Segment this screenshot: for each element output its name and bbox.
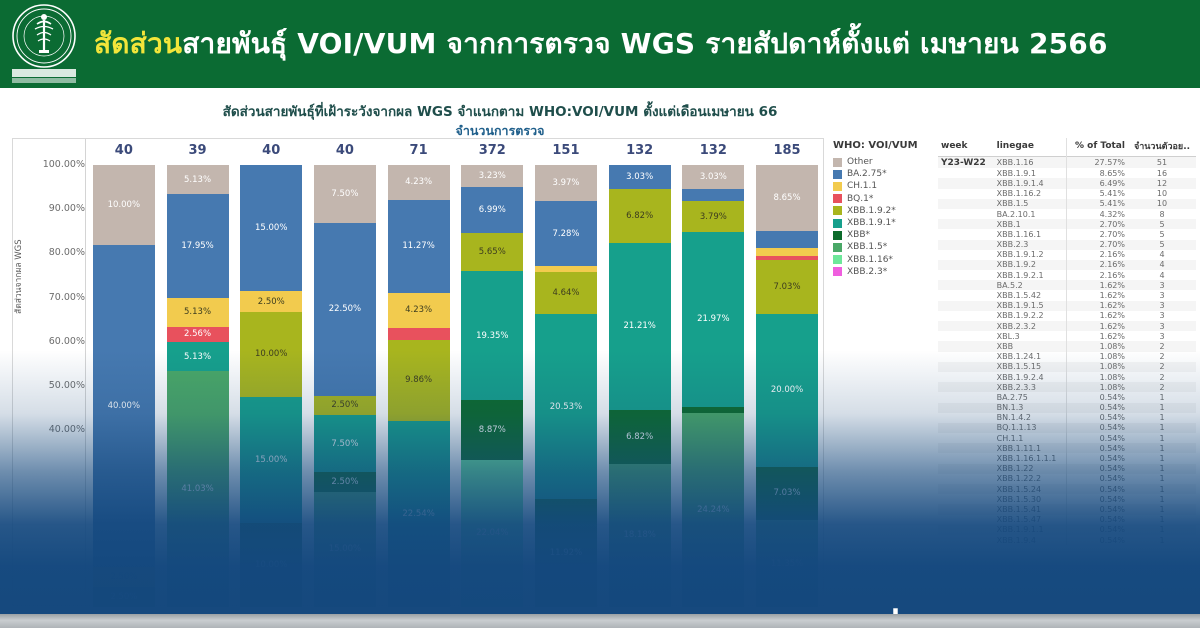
y-axis-tick: 100.00%	[17, 159, 85, 170]
bar-stack: 3.03%6.82%21.21%6.82%18.18%	[609, 165, 671, 607]
cell-percent: 2.70%	[1066, 240, 1128, 250]
bar-segment-label: 21.97%	[697, 314, 729, 324]
cell-percent: 0.54%	[1066, 433, 1128, 443]
bar-segment-label: 5.65%	[479, 247, 506, 257]
cell-percent: 2.70%	[1066, 229, 1128, 239]
cell-lineage: XBB.1.22.2	[994, 474, 1067, 484]
cell-count: 3	[1128, 280, 1196, 290]
cell-week	[938, 474, 994, 484]
legend-item[interactable]: XBB*	[833, 229, 933, 241]
cell-percent: 1.08%	[1066, 372, 1128, 382]
cell-count: 1	[1128, 474, 1196, 484]
bar-segment[interactable]	[756, 248, 818, 256]
cell-count: 1	[1128, 443, 1196, 453]
cell-percent: 1.62%	[1066, 321, 1128, 331]
legend-label: CH.1.1	[847, 181, 877, 191]
bottom-strip	[0, 614, 1200, 628]
bar-stack: 8.65%7.03%20.00%7.03%11.35%	[756, 165, 818, 607]
cell-lineage: XBB.1.5.15	[994, 362, 1067, 372]
table-head: week linegae % of Total จำนวนตัวอย..	[938, 138, 1196, 157]
table-row[interactable]: XBB.1.9.18.65%16	[938, 168, 1196, 178]
bar-segment[interactable]: 8.87%	[461, 400, 523, 459]
cell-percent: 0.54%	[1066, 494, 1128, 504]
bar-segment-label: 9.86%	[405, 375, 432, 385]
bar-segment-label: 7.50%	[331, 439, 358, 449]
bar-segment-label: 11.92%	[550, 548, 582, 558]
cell-lineage: XBB.1.24.1	[994, 352, 1067, 362]
legend-label: XBB.2.3*	[847, 267, 887, 277]
bar-column[interactable]: 407.50%22.50%2.50%7.50%2.50%15.00%	[314, 139, 376, 607]
bar-count-label: 40	[314, 143, 376, 158]
cell-count: 10	[1128, 199, 1196, 209]
bar-segment[interactable]: 10.00%	[240, 523, 302, 607]
cell-count: 1	[1128, 423, 1196, 433]
cell-percent: 0.54%	[1066, 515, 1128, 525]
bar-segment-label: 5.13%	[184, 307, 211, 317]
cell-lineage: XBB.1.9.2.2	[994, 311, 1067, 321]
bar-segment-label: 2.50%	[331, 477, 358, 487]
cell-count: 3	[1128, 321, 1196, 331]
cell-lineage: BA.5.2	[994, 280, 1067, 290]
cell-percent: 0.54%	[1066, 484, 1128, 494]
bar-segment-label: 2.50%	[110, 572, 137, 582]
cell-week	[938, 535, 994, 545]
bar-segment-label: 7.03%	[774, 488, 801, 498]
bar-segment[interactable]: 20.53%	[535, 314, 597, 499]
bar-segment[interactable]: 5.13%	[167, 342, 229, 371]
bar-segment[interactable]: 18.18%	[609, 464, 671, 607]
bar-segment[interactable]: 15.00%	[240, 397, 302, 523]
table-row[interactable]: XBB.1.24.11.08%2	[938, 352, 1196, 362]
cell-count: 1	[1128, 484, 1196, 494]
table-row[interactable]: XBB.1.5.151.08%2	[938, 362, 1196, 372]
bar-segment[interactable]: 20.00%	[756, 314, 818, 467]
table-row[interactable]: XBB.2.3.21.62%3	[938, 321, 1196, 331]
bar-segment[interactable]: 41.03%	[167, 371, 229, 607]
cell-percent: 1.62%	[1066, 331, 1128, 341]
cell-lineage: XBB.1.16.1.1.1	[994, 453, 1067, 463]
bar-segment-label: 6.82%	[626, 211, 653, 221]
cell-count: 1	[1128, 433, 1196, 443]
bar-segment[interactable]: 17.95%	[167, 194, 229, 297]
cell-percent: 1.08%	[1066, 362, 1128, 372]
bar-segment-label: 40.00%	[108, 401, 140, 411]
bar-segment[interactable]: 7.03%	[756, 467, 818, 521]
bar-segment-label: 3.03%	[700, 172, 727, 182]
cell-count: 2	[1128, 382, 1196, 392]
cell-lineage: XBB.1.5.30	[994, 494, 1067, 504]
cell-count: 3	[1128, 311, 1196, 321]
bar-segment-label: 3.97%	[552, 178, 579, 188]
cell-count: 1	[1128, 403, 1196, 413]
bar-segment[interactable]: 4.23%	[388, 293, 450, 328]
bar-segment-label: 21.21%	[623, 321, 655, 331]
table-body: Y23-W22XBB.1.1627.57%51XBB.1.9.18.65%16X…	[938, 157, 1196, 546]
th-lineage[interactable]: linegae	[994, 138, 1067, 157]
legend-title: WHO: VOI/VUM	[833, 140, 933, 151]
bar-column[interactable]: 1513.97%7.28%4.64%20.53%11.92%	[535, 139, 597, 607]
bar-segment-label: 3.23%	[479, 171, 506, 181]
bar-segment-label: 4.64%	[552, 288, 579, 298]
bar-count-label: 39	[167, 143, 229, 158]
bar-segment[interactable]: 11.92%	[535, 499, 597, 607]
table-row[interactable]: BA.2.10.14.32%8	[938, 209, 1196, 219]
bar-stack: 3.23%6.99%5.65%19.35%8.87%22.04%	[461, 165, 523, 607]
cell-week	[938, 229, 994, 239]
cell-percent: 0.54%	[1066, 423, 1128, 433]
bar-segment[interactable]: 11.35%	[756, 520, 818, 607]
bar-column[interactable]: 3723.23%6.99%5.65%19.35%8.87%22.04%	[461, 139, 523, 607]
cell-count: 10	[1128, 189, 1196, 199]
chart-plot-area: สัดส่วนจากผล WGS 100.00%90.00%80.00%70.0…	[12, 138, 824, 606]
bar-segment[interactable]: 7.03%	[756, 260, 818, 314]
legend-item[interactable]: XBB.1.5*	[833, 241, 933, 253]
table-row[interactable]: BA.2.750.54%1	[938, 392, 1196, 402]
bar-segment-label: 10.00%	[255, 560, 287, 570]
bar-count-label: 132	[609, 143, 671, 158]
bar-segment[interactable]: 24.24%	[682, 413, 744, 607]
bar-segment[interactable]	[756, 231, 818, 248]
cell-lineage: XBB.1.16	[994, 157, 1067, 169]
table-row[interactable]: XBB1.08%2	[938, 341, 1196, 351]
cell-lineage: XBB.2.3.2	[994, 321, 1067, 331]
bar-segment[interactable]: 40.00%	[93, 245, 155, 566]
bar-segment[interactable]: 19.35%	[461, 271, 523, 400]
y-axis-tick: 80.00%	[17, 247, 85, 258]
cell-count: 1	[1128, 494, 1196, 504]
cell-count: 12	[1128, 178, 1196, 188]
bar-segment[interactable]: 2.50%	[314, 396, 376, 415]
bar-stack: 3.03%3.79%21.97%24.24%	[682, 165, 744, 607]
cell-count: 2	[1128, 341, 1196, 351]
cell-lineage: XBB.1.9.2.4	[994, 372, 1067, 382]
legend-item[interactable]: BA.2.75*	[833, 168, 933, 180]
bar-segment-label: 2.50%	[258, 297, 285, 307]
bar-segment[interactable]: 3.23%	[461, 165, 523, 187]
slide-body: สัดส่วนสายพันธุ์ที่เฝ้าระวังจากผล WGS จำ…	[0, 88, 1200, 628]
bar-segment[interactable]: 2.56%	[167, 327, 229, 342]
cell-week	[938, 372, 994, 382]
cell-week	[938, 240, 994, 250]
cell-week	[938, 494, 994, 504]
bar-segment[interactable]: 4.23%	[388, 165, 450, 200]
bar-count-label: 40	[240, 143, 302, 158]
table-row[interactable]: XBB.1.5.470.54%1	[938, 515, 1196, 525]
cell-count: 3	[1128, 290, 1196, 300]
table-row[interactable]: BQ.1.1.130.54%1	[938, 423, 1196, 433]
legend-item[interactable]: XBB.1.9.1*	[833, 217, 933, 229]
table-row[interactable]: CH.1.10.54%1	[938, 433, 1196, 443]
table-row[interactable]: XBB.1.9.1.22.16%4	[938, 250, 1196, 260]
cell-percent: 1.08%	[1066, 341, 1128, 351]
chart-title: สัดส่วนสายพันธุ์ที่เฝ้าระวังจากผล WGS จำ…	[0, 100, 1000, 122]
cell-percent: 1.62%	[1066, 290, 1128, 300]
bar-segment-label: 20.00%	[771, 385, 803, 395]
bar-stack: 7.50%22.50%2.50%7.50%2.50%15.00%	[314, 165, 376, 607]
table-row[interactable]: XBB.1.5.240.54%1	[938, 484, 1196, 494]
table-row[interactable]: XBL.31.62%3	[938, 331, 1196, 341]
y-axis-tick: 70.00%	[17, 292, 85, 303]
cell-lineage: BA.2.75	[994, 392, 1067, 402]
cell-lineage: XBB.1	[994, 219, 1067, 229]
cell-count: 1	[1128, 464, 1196, 474]
cell-percent: 1.62%	[1066, 301, 1128, 311]
bar-segment-label: 24.24%	[697, 505, 729, 515]
cell-lineage: BN.1.4.2	[994, 413, 1067, 423]
bar-count-label: 185	[756, 143, 818, 158]
table-row[interactable]: XBB.1.16.1.1.10.54%1	[938, 453, 1196, 463]
y-axis-tick: 40.00%	[17, 424, 85, 435]
cell-count: 5	[1128, 219, 1196, 229]
cell-week	[938, 260, 994, 270]
table-row[interactable]: BN.1.30.54%1	[938, 403, 1196, 413]
table-row[interactable]: XBB.1.9.1.10.54%1	[938, 525, 1196, 535]
bar-segment[interactable]: 4.64%	[535, 272, 597, 314]
bar-segment-label: 22.50%	[329, 304, 361, 314]
legend-label: XBB.1.9.2*	[847, 206, 896, 216]
cell-percent: 0.54%	[1066, 504, 1128, 514]
bar-segment[interactable]: 3.03%	[609, 165, 671, 189]
cell-lineage: XBB.1.5.42	[994, 290, 1067, 300]
table-row[interactable]: XBB.1.16.12.70%5	[938, 229, 1196, 239]
cell-percent: 5.41%	[1066, 189, 1128, 199]
cell-count: 4	[1128, 260, 1196, 270]
cell-week	[938, 382, 994, 392]
cell-week	[938, 178, 994, 188]
bar-stack: 15.00%2.50%10.00%15.00%10.00%	[240, 165, 302, 607]
legend-item[interactable]: XBB.2.3*	[833, 266, 933, 278]
cell-lineage: BA.2.10.1	[994, 209, 1067, 219]
bar-segment[interactable]	[682, 189, 744, 201]
page-title-rest: สายพันธุ์ VOI/VUM จากการตรวจ WGS รายสัปด…	[182, 27, 1107, 60]
bar-segment-label: 22.04%	[476, 528, 508, 538]
cell-count: 1	[1128, 535, 1196, 545]
cell-lineage: XBB	[994, 341, 1067, 351]
bar-segment-label: 10.00%	[108, 200, 140, 210]
bar-segment-label: 5.13%	[184, 175, 211, 185]
cell-week	[938, 443, 994, 453]
table-row[interactable]: Y23-W22XBB.1.1627.57%51	[938, 157, 1196, 169]
cell-count: 4	[1128, 250, 1196, 260]
table-row[interactable]: XBB.1.5.300.54%1	[938, 494, 1196, 504]
bar-segment[interactable]: 2.50%	[314, 472, 376, 491]
table-row[interactable]: XBB.1.16.25.41%10	[938, 189, 1196, 199]
bar-segment-label: 20.53%	[550, 402, 582, 412]
bar-stack: 5.13%17.95%5.13%2.56%5.13%41.03%	[167, 165, 229, 607]
lineage-table: week linegae % of Total จำนวนตัวอย.. Y23…	[938, 138, 1196, 545]
cell-week	[938, 413, 994, 423]
bar-segment[interactable]: 6.99%	[461, 187, 523, 234]
bar-segment-label: 15.00%	[329, 544, 361, 554]
legend-label: BQ.1*	[847, 194, 873, 204]
cell-week	[938, 311, 994, 321]
table-row[interactable]: XBB.1.9.1.51.62%3	[938, 301, 1196, 311]
bar-column[interactable]: 1323.03%3.79%21.97%24.24%	[682, 139, 744, 607]
th-sample-count[interactable]: จำนวนตัวอย..	[1128, 138, 1196, 157]
legend-swatch	[833, 267, 842, 276]
bar-segment[interactable]: 5.13%	[167, 165, 229, 194]
legend-item[interactable]: XBB.1.9.2*	[833, 205, 933, 217]
page-title: สัดส่วนสายพันธุ์ VOI/VUM จากการตรวจ WGS …	[88, 29, 1108, 60]
slide-header: สัดส่วนสายพันธุ์ VOI/VUM จากการตรวจ WGS …	[0, 0, 1200, 88]
table-row[interactable]: XBB.1.55.41%10	[938, 199, 1196, 209]
bar-segment-label: 22.54%	[402, 509, 434, 519]
bar-count-label: 372	[461, 143, 523, 158]
bar-segment[interactable]: 2.50%	[93, 567, 155, 587]
table-row[interactable]: XBB.1.9.2.21.62%3	[938, 311, 1196, 321]
table-row[interactable]: XBB.2.3.31.08%2	[938, 382, 1196, 392]
bar-segment-label: 7.28%	[552, 229, 579, 239]
bar-column[interactable]: 395.13%17.95%5.13%2.56%5.13%41.03%	[167, 139, 229, 607]
bar-segment[interactable]: 15.00%	[314, 492, 376, 607]
cell-lineage: XBB.1.5.47	[994, 515, 1067, 525]
cell-percent: 0.54%	[1066, 464, 1128, 474]
cell-percent: 1.08%	[1066, 382, 1128, 392]
legend-swatch	[833, 206, 842, 215]
table-row[interactable]: XBB.1.5.410.54%1	[938, 504, 1196, 514]
bar-segment[interactable]: 3.03%	[682, 165, 744, 189]
table-row[interactable]: XBB.2.32.70%5	[938, 240, 1196, 250]
legend-item[interactable]: Other	[833, 156, 933, 168]
legend-swatch	[833, 194, 842, 203]
bar-segment[interactable]: 8.65%	[756, 165, 818, 231]
bar-segment[interactable]: 11.27%	[388, 200, 450, 293]
cell-week	[938, 199, 994, 209]
cell-count: 3	[1128, 331, 1196, 341]
th-percent-of-total[interactable]: % of Total	[1066, 138, 1128, 157]
bar-count-label: 71	[388, 143, 450, 158]
legend-label: XBB*	[847, 230, 870, 240]
bar-segment[interactable]: 7.28%	[535, 201, 597, 267]
table-row[interactable]: XBB.1.11.10.54%1	[938, 443, 1196, 453]
table-row[interactable]: XBB.1.9.1.46.49%12	[938, 178, 1196, 188]
bar-segment-label: 4.23%	[405, 305, 432, 315]
cell-percent: 1.62%	[1066, 311, 1128, 321]
cell-count: 2	[1128, 362, 1196, 372]
legend-item[interactable]: BQ.1*	[833, 193, 933, 205]
table-row[interactable]: XBB.12.70%5	[938, 219, 1196, 229]
cell-lineage: XBL.3	[994, 331, 1067, 341]
bar-segment-label: 2.50%	[331, 400, 358, 410]
bar-segment-label: 4.23%	[405, 177, 432, 187]
cell-lineage: XBB.1.9.1.1	[994, 525, 1067, 535]
y-axis-tick: 50.00%	[17, 380, 85, 391]
bar-column[interactable]: 4015.00%2.50%10.00%15.00%10.00%	[240, 139, 302, 607]
cell-count: 51	[1128, 157, 1196, 169]
bar-segment-label: 6.82%	[626, 432, 653, 442]
bar-segment[interactable]: 5.65%	[461, 233, 523, 271]
bar-segment[interactable]: 3.79%	[682, 201, 744, 231]
cell-percent: 27.57%	[1066, 157, 1128, 169]
bar-stack: 3.97%7.28%4.64%20.53%11.92%	[535, 165, 597, 607]
cell-week	[938, 362, 994, 372]
cell-percent: 0.54%	[1066, 474, 1128, 484]
table-row[interactable]: XBB.1.9.40.54%1	[938, 535, 1196, 545]
bar-segment[interactable]: 7.50%	[314, 415, 376, 473]
bar-segment[interactable]: 6.82%	[609, 189, 671, 243]
cell-lineage: XBB.1.9.1	[994, 168, 1067, 178]
legend-swatch	[833, 231, 842, 240]
bar-segment[interactable]: 10.00%	[93, 165, 155, 245]
cell-week	[938, 341, 994, 351]
cell-week	[938, 301, 994, 311]
bar-segment[interactable]	[388, 328, 450, 340]
bar-count-label: 132	[682, 143, 744, 158]
bar-segment[interactable]: 22.04%	[461, 460, 523, 607]
bar-segment-label: 3.03%	[626, 172, 653, 182]
bar-segment[interactable]: 21.97%	[682, 232, 744, 408]
cell-week	[938, 484, 994, 494]
y-axis: สัดส่วนจากผล WGS 100.00%90.00%80.00%70.0…	[13, 139, 85, 607]
table-row[interactable]: BN.1.4.20.54%1	[938, 413, 1196, 423]
cell-lineage: XBB.1.16.2	[994, 189, 1067, 199]
table-row[interactable]: XBB.1.9.2.12.16%4	[938, 270, 1196, 280]
legend-label: XBB.1.5*	[847, 242, 887, 252]
bar-column[interactable]: 4010.00%40.00%2.50%2.50%	[93, 139, 155, 607]
bar-column[interactable]: 1323.03%6.82%21.21%6.82%18.18%	[609, 139, 671, 607]
cell-lineage: CH.1.1	[994, 433, 1067, 443]
cell-count: 1	[1128, 413, 1196, 423]
bar-segment-label: 3.79%	[700, 212, 727, 222]
legend-item[interactable]: XBB.1.16*	[833, 254, 933, 266]
bar-segment[interactable]: 3.97%	[535, 165, 597, 201]
cell-count: 1	[1128, 525, 1196, 535]
cell-lineage: XBB.1.22	[994, 464, 1067, 474]
bar-count-label: 151	[535, 143, 597, 158]
cell-percent: 2.16%	[1066, 250, 1128, 260]
cell-week: Y23-W22	[938, 157, 994, 169]
bar-segment[interactable]: 22.50%	[314, 223, 376, 396]
bar-segment[interactable]: 2.50%	[240, 291, 302, 312]
cell-percent: 0.54%	[1066, 453, 1128, 463]
bar-segment[interactable]: 9.86%	[388, 340, 450, 421]
th-week[interactable]: week	[938, 138, 994, 157]
cell-percent: 4.32%	[1066, 209, 1128, 219]
bar-segment[interactable]: 21.21%	[609, 243, 671, 410]
bar-column[interactable]: 714.23%11.27%4.23%9.86%22.54%	[388, 139, 450, 607]
bar-segment[interactable]: 5.13%	[167, 298, 229, 327]
bar-segment[interactable]: 15.00%	[240, 165, 302, 291]
cell-lineage: XBB.1.9.1.2	[994, 250, 1067, 260]
cell-week	[938, 168, 994, 178]
bar-segment-label: 2.50%	[110, 592, 137, 602]
bar-column[interactable]: 1858.65%7.03%20.00%7.03%11.35%	[756, 139, 818, 607]
bar-segment[interactable]: 6.82%	[609, 410, 671, 464]
cell-count: 4	[1128, 270, 1196, 280]
table-row[interactable]: XBB.1.9.22.16%4	[938, 260, 1196, 270]
table-row[interactable]: XBB.1.220.54%1	[938, 464, 1196, 474]
legend-item[interactable]: CH.1.1	[833, 180, 933, 192]
table-row[interactable]: XBB.1.5.421.62%3	[938, 290, 1196, 300]
table-row[interactable]: XBB.1.9.2.41.08%2	[938, 372, 1196, 382]
bar-segment-label: 41.03%	[181, 484, 213, 494]
chart-legend: WHO: VOI/VUM OtherBA.2.75*CH.1.1BQ.1*XBB…	[833, 140, 933, 278]
table-row[interactable]: XBB.1.22.20.54%1	[938, 474, 1196, 484]
cell-lineage: XBB.2.3	[994, 240, 1067, 250]
cell-week	[938, 504, 994, 514]
cell-week	[938, 270, 994, 280]
table-header-row: week linegae % of Total จำนวนตัวอย..	[938, 138, 1196, 157]
cell-count: 1	[1128, 504, 1196, 514]
bar-segment[interactable]: 10.00%	[240, 312, 302, 396]
cell-week	[938, 189, 994, 199]
cell-week	[938, 392, 994, 402]
table-row[interactable]: BA.5.21.62%3	[938, 280, 1196, 290]
cell-percent: 2.70%	[1066, 219, 1128, 229]
bar-segment[interactable]: 7.50%	[314, 165, 376, 223]
bar-segment[interactable]: 22.54%	[388, 421, 450, 607]
lineage-data-table[interactable]: week linegae % of Total จำนวนตัวอย.. Y23…	[938, 138, 1196, 545]
